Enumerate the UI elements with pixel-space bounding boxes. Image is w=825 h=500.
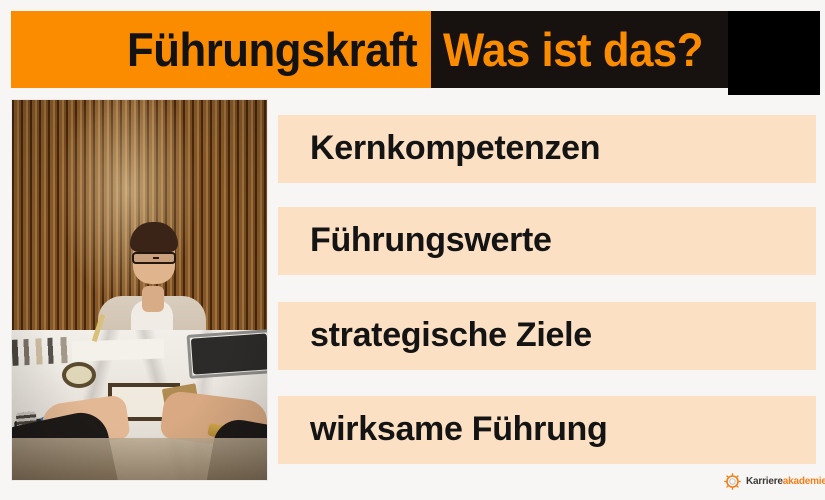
sun-circle-icon [724, 473, 741, 490]
bullet-label: Führungswerte [310, 207, 552, 275]
photo-vignette [12, 100, 267, 480]
bullet-bar: Kernkompetenzen [278, 115, 816, 183]
meeting-photo [12, 100, 267, 480]
bullet-bar: wirksame Führung [278, 396, 816, 464]
slide-canvas: Führungskraft Was ist das? [0, 0, 825, 500]
bullet-bar: strategische Ziele [278, 302, 816, 370]
header-banner: Führungskraft Was ist das? [11, 11, 820, 95]
header-black-tail [728, 11, 820, 95]
header-title-secondary: Was ist das? [443, 11, 703, 88]
brand-part-1: Karriere [746, 476, 783, 487]
brand-logo: Karriereakademie.de [724, 471, 825, 491]
bullet-label: Kernkompetenzen [310, 115, 600, 183]
bullet-label: strategische Ziele [310, 302, 592, 370]
bullet-label: wirksame Führung [310, 396, 607, 464]
bullet-bar: Führungswerte [278, 207, 816, 275]
header-title-primary: Führungskraft [127, 11, 417, 88]
brand-wordmark: Karriereakademie.de [746, 476, 825, 487]
brand-part-2: akademie [783, 476, 825, 487]
